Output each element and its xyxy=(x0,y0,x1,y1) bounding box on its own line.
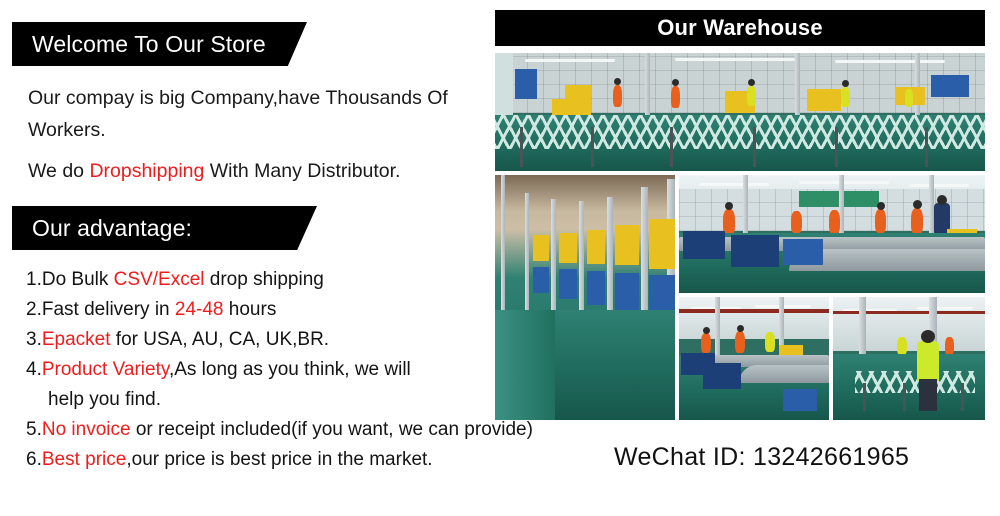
advantage-item-post: ,our price is best price in the market. xyxy=(126,449,432,470)
advantage-item-index: 5. xyxy=(26,419,42,440)
advantage-item-highlight: No invoice xyxy=(42,419,131,440)
advantage-banner-label: Our advantage: xyxy=(12,215,192,242)
photo-warehouse-sorting-line xyxy=(679,175,985,293)
advantage-item-highlight: Product Variety xyxy=(42,359,169,380)
intro-paragraph: Our compay is big Company,have Thousands… xyxy=(28,82,493,146)
warehouse-collage: Our Warehouse xyxy=(495,10,985,420)
intro-line-3-post: With Many Distributor. xyxy=(204,160,400,182)
left-text-column: Welcome To Our Store Our compay is big C… xyxy=(0,0,495,516)
warehouse-title-label: Our Warehouse xyxy=(657,15,823,41)
advantage-item-post: hours xyxy=(224,299,277,320)
intro-line-3: We do Dropshipping With Many Distributor… xyxy=(28,155,493,187)
intro-line-3-highlight: Dropshipping xyxy=(89,160,204,182)
intro-line-2: Workers. xyxy=(28,114,493,146)
photo-warehouse-packing-line xyxy=(679,297,829,420)
warehouse-title-bar: Our Warehouse xyxy=(495,10,985,46)
wechat-id-text: WeChat ID: 13242661965 xyxy=(614,443,909,472)
photo-warehouse-worker-conveyor xyxy=(833,297,985,420)
advantage-item-highlight: CSV/Excel xyxy=(114,269,205,290)
intro-line-3-pre: We do xyxy=(28,160,89,182)
photo-warehouse-storage-aisle xyxy=(495,175,675,420)
advantage-item-highlight: Best price xyxy=(42,449,126,470)
welcome-banner: Welcome To Our Store xyxy=(12,22,307,66)
intro-line-1: Our compay is big Company,have Thousands… xyxy=(28,82,493,114)
advantage-item-index: 3. xyxy=(26,329,42,350)
advantage-item-post: ,As long as you think, we will xyxy=(169,359,411,380)
advantage-item-index: 4. xyxy=(26,359,42,380)
advantage-item-highlight: 24-48 xyxy=(175,299,224,320)
advantage-item-index: 1. xyxy=(26,269,42,290)
advantage-item-post: for USA, AU, CA, UK,BR. xyxy=(111,329,330,350)
advantage-item-post: or receipt included(if you want, we can … xyxy=(131,419,533,440)
dropshipping-paragraph: We do Dropshipping With Many Distributor… xyxy=(28,155,493,187)
advantage-item-post: drop shipping xyxy=(204,269,323,290)
advantage-item: 6.Best price,our price is best price in … xyxy=(26,445,626,475)
photo-warehouse-overview-conveyors xyxy=(495,53,985,171)
advantage-item-index: 2. xyxy=(26,299,42,320)
advantage-item-highlight: Epacket xyxy=(42,329,111,350)
advantage-banner: Our advantage: xyxy=(12,206,317,250)
promo-banner-page: Welcome To Our Store Our compay is big C… xyxy=(0,0,1000,516)
advantage-item-pre: Do Bulk xyxy=(42,269,114,290)
advantage-item-index: 6. xyxy=(26,449,42,470)
welcome-banner-label: Welcome To Our Store xyxy=(12,31,266,58)
advantage-item-pre: Fast delivery in xyxy=(42,299,175,320)
